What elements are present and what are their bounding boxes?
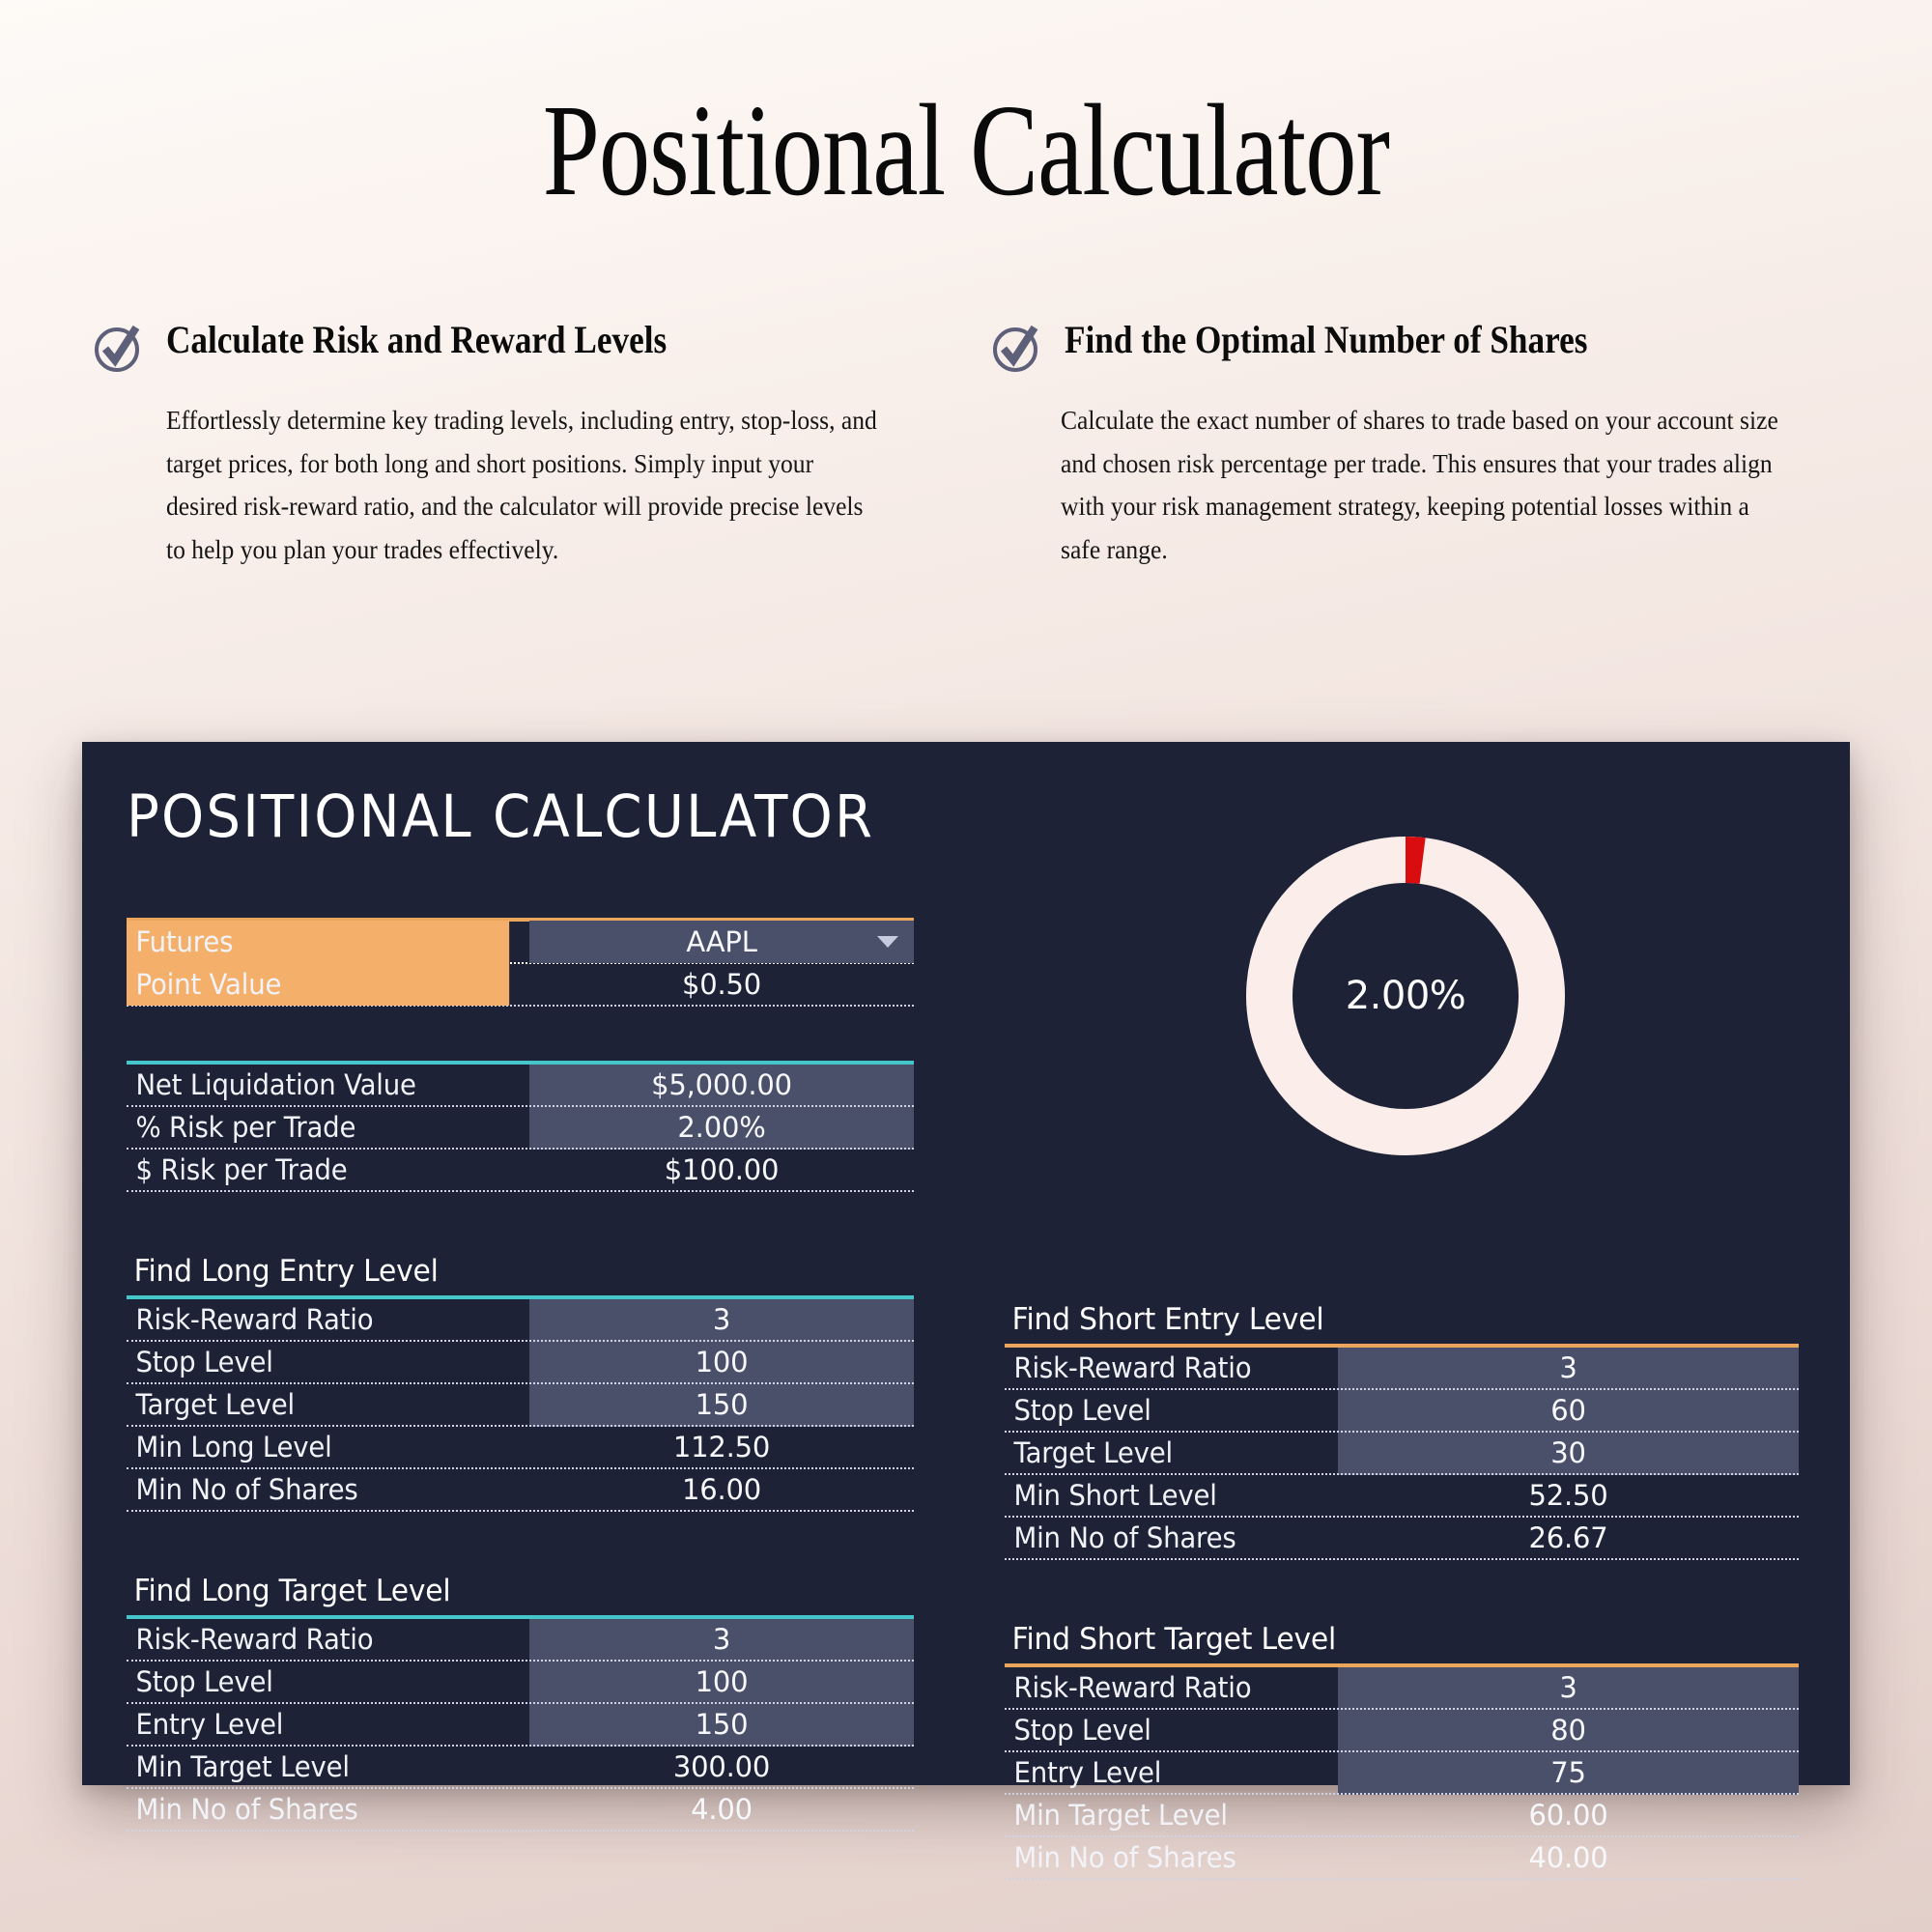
table-row[interactable]: Stop Level 80	[1005, 1710, 1799, 1752]
calculator-panel: POSITIONAL CALCULATOR Futures AAPL Point…	[82, 742, 1850, 1785]
table-row: Min No of Shares 40.00	[1005, 1837, 1799, 1880]
table-row: Min Short Level 52.50	[1005, 1475, 1799, 1518]
table-row: Min No of Shares 26.67	[1005, 1518, 1799, 1560]
row-value[interactable]: 75	[1338, 1756, 1799, 1789]
row-value[interactable]: 80	[1338, 1714, 1799, 1747]
row-value[interactable]: 150	[529, 1388, 914, 1421]
feature-title: Find the Optimal Number of Shares	[1065, 319, 1587, 362]
row-label: Net Liquidation Value	[127, 1068, 509, 1101]
table-row[interactable]: Net Liquidation Value $5,000.00	[127, 1065, 914, 1107]
row-label: Min No of Shares	[1005, 1841, 1321, 1874]
row-value[interactable]: $5,000.00	[529, 1068, 914, 1101]
row-label: Min No of Shares	[127, 1473, 509, 1506]
table-row[interactable]: Target Level 150	[127, 1384, 914, 1427]
row-value[interactable]: 3	[1338, 1351, 1799, 1384]
check-circle-icon	[991, 322, 1043, 374]
row-label: Min Target Level	[127, 1750, 509, 1783]
point-value-amount: $0.50	[529, 968, 914, 1001]
row-value[interactable]: 60	[1338, 1394, 1799, 1427]
row-label: Risk-Reward Ratio	[127, 1303, 509, 1336]
row-label: Stop Level	[1005, 1394, 1321, 1427]
table-row: $ Risk per Trade $100.00	[127, 1150, 914, 1192]
row-value: 4.00	[529, 1793, 914, 1826]
row-value: 16.00	[529, 1473, 914, 1506]
table-row[interactable]: Target Level 30	[1005, 1433, 1799, 1475]
point-value-row: Point Value $0.50	[127, 964, 914, 1007]
table-row[interactable]: Risk-Reward Ratio 3	[1005, 1667, 1799, 1710]
row-value: 52.50	[1338, 1479, 1799, 1512]
point-value-label: Point Value	[127, 963, 509, 1006]
feature-header: Find the Optimal Number of Shares	[991, 319, 1839, 374]
row-label: Min Long Level	[127, 1431, 509, 1463]
row-label: Entry Level	[127, 1708, 509, 1741]
row-value[interactable]: 150	[529, 1708, 914, 1741]
chevron-down-icon[interactable]	[877, 936, 898, 948]
table-row: Min Long Level 112.50	[127, 1427, 914, 1469]
feature-header: Calculate Risk and Reward Levels	[93, 319, 941, 374]
table-row[interactable]: Risk-Reward Ratio 3	[127, 1299, 914, 1342]
row-value: 26.67	[1338, 1521, 1799, 1554]
instrument-block: Futures AAPL Point Value $0.50	[127, 918, 914, 1007]
table-row[interactable]: Risk-Reward Ratio 3	[127, 1619, 914, 1662]
section-title: Find Short Entry Level	[1005, 1302, 1767, 1344]
table-row: Min No of Shares 4.00	[127, 1789, 914, 1832]
right-column: Find Short Entry Level Risk-Reward Ratio…	[1005, 918, 1799, 1880]
feature-description: Effortlessly determine key trading level…	[166, 399, 887, 571]
table-long-target: Find Long Target Level Risk-Reward Ratio…	[127, 1574, 914, 1832]
row-value: $100.00	[529, 1153, 914, 1186]
symbol-select-value: AAPL	[686, 925, 756, 958]
section-title: Find Long Target Level	[127, 1574, 882, 1615]
table-row: Min Target Level 300.00	[127, 1747, 914, 1789]
row-value: 40.00	[1338, 1841, 1799, 1874]
instrument-type-label: Futures	[127, 921, 509, 963]
row-label: Stop Level	[1005, 1714, 1321, 1747]
row-label: Stop Level	[127, 1665, 509, 1698]
row-label: Min No of Shares	[127, 1793, 509, 1826]
row-value: 300.00	[529, 1750, 914, 1783]
row-label: Risk-Reward Ratio	[1005, 1671, 1321, 1704]
section-title: Find Long Entry Level	[127, 1254, 882, 1295]
table-row[interactable]: Stop Level 60	[1005, 1390, 1799, 1433]
table-long-entry: Find Long Entry Level Risk-Reward Ratio …	[127, 1254, 914, 1512]
instrument-type-row[interactable]: Futures AAPL	[127, 922, 914, 964]
row-value[interactable]: 3	[1338, 1671, 1799, 1704]
table-short-entry: Find Short Entry Level Risk-Reward Ratio…	[1005, 1302, 1799, 1560]
row-value[interactable]: 3	[529, 1303, 914, 1336]
row-label: $ Risk per Trade	[127, 1153, 509, 1186]
table-row[interactable]: Stop Level 100	[127, 1342, 914, 1384]
table-row: Min No of Shares 16.00	[127, 1469, 914, 1512]
row-value[interactable]: 30	[1338, 1436, 1799, 1469]
symbol-select[interactable]: AAPL	[529, 921, 914, 963]
table-short-target: Find Short Target Level Risk-Reward Rati…	[1005, 1622, 1799, 1880]
row-label: Stop Level	[127, 1346, 509, 1378]
table-row: Min Target Level 60.00	[1005, 1795, 1799, 1837]
row-label: % Risk per Trade	[127, 1111, 509, 1144]
feature-title: Calculate Risk and Reward Levels	[166, 319, 667, 362]
account-table: Net Liquidation Value $5,000.00 % Risk p…	[127, 1061, 914, 1192]
page-title: Positional Calculator	[213, 0, 1719, 216]
table-row[interactable]: Entry Level 75	[1005, 1752, 1799, 1795]
row-label: Risk-Reward Ratio	[1005, 1351, 1321, 1384]
row-label: Min Short Level	[1005, 1479, 1321, 1512]
feature-card-1: Calculate Risk and Reward Levels Effortl…	[93, 319, 941, 571]
row-label: Entry Level	[1005, 1756, 1321, 1789]
left-column: Futures AAPL Point Value $0.50 Net Liqui…	[127, 918, 914, 1832]
table-row[interactable]: Risk-Reward Ratio 3	[1005, 1348, 1799, 1390]
table-row[interactable]: Entry Level 150	[127, 1704, 914, 1747]
row-label: Min Target Level	[1005, 1799, 1321, 1832]
section-title: Find Short Target Level	[1005, 1622, 1767, 1663]
row-label: Risk-Reward Ratio	[127, 1623, 509, 1656]
row-value[interactable]: 100	[529, 1665, 914, 1698]
app-title: POSITIONAL CALCULATOR	[127, 782, 874, 851]
row-value[interactable]: 3	[529, 1623, 914, 1656]
table-row[interactable]: Stop Level 100	[127, 1662, 914, 1704]
row-value: 60.00	[1338, 1799, 1799, 1832]
row-label: Target Level	[127, 1388, 509, 1421]
row-value[interactable]: 100	[529, 1346, 914, 1378]
table-row[interactable]: % Risk per Trade 2.00%	[127, 1107, 914, 1150]
feature-description: Calculate the exact number of shares to …	[1061, 399, 1785, 571]
row-value: 112.50	[529, 1431, 914, 1463]
row-label: Min No of Shares	[1005, 1521, 1321, 1554]
row-label: Target Level	[1005, 1436, 1321, 1469]
feature-list: Calculate Risk and Reward Levels Effortl…	[0, 319, 1932, 571]
feature-card-2: Find the Optimal Number of Shares Calcul…	[991, 319, 1839, 571]
check-circle-icon	[93, 322, 145, 374]
row-value[interactable]: 2.00%	[529, 1111, 914, 1144]
